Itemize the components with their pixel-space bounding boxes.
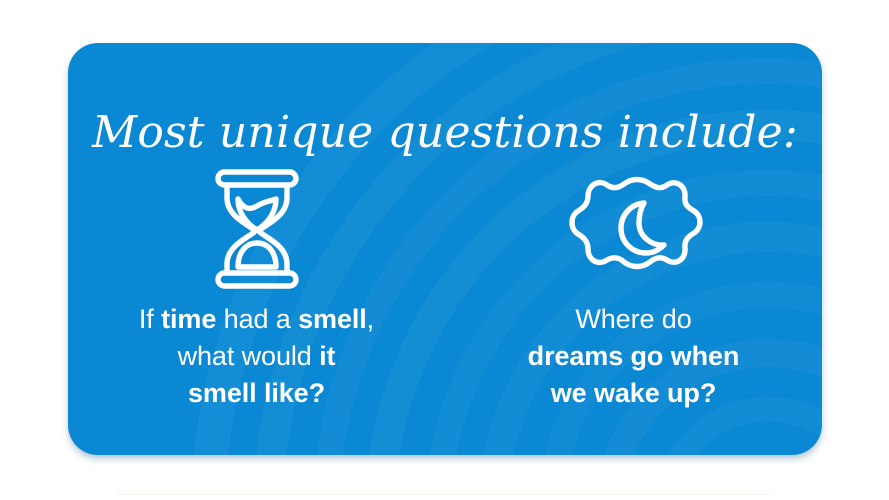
question-item-dreams: Where do dreams go when we wake up?	[445, 163, 822, 455]
footer-divider	[118, 494, 771, 495]
question-text-time: If time had a smell, what would it smell…	[139, 301, 374, 412]
page-title: Most unique questions include:	[68, 109, 822, 157]
questions-row: If time had a smell, what would it smell…	[68, 163, 822, 455]
question-item-time: If time had a smell, what would it smell…	[68, 163, 445, 455]
question-line: what would it	[139, 338, 374, 375]
pillow-moon-icon	[558, 163, 710, 295]
question-card: Most unique questions include:	[68, 43, 822, 455]
question-line: Where do	[528, 301, 740, 338]
slide-canvas: Most unique questions include:	[0, 0, 889, 500]
question-line: dreams go when	[528, 338, 740, 375]
question-line: smell like?	[139, 375, 374, 412]
question-line: we wake up?	[528, 375, 740, 412]
question-text-dreams: Where do dreams go when we wake up?	[528, 301, 740, 412]
question-line: If time had a smell,	[139, 301, 374, 338]
hourglass-icon	[205, 163, 309, 295]
